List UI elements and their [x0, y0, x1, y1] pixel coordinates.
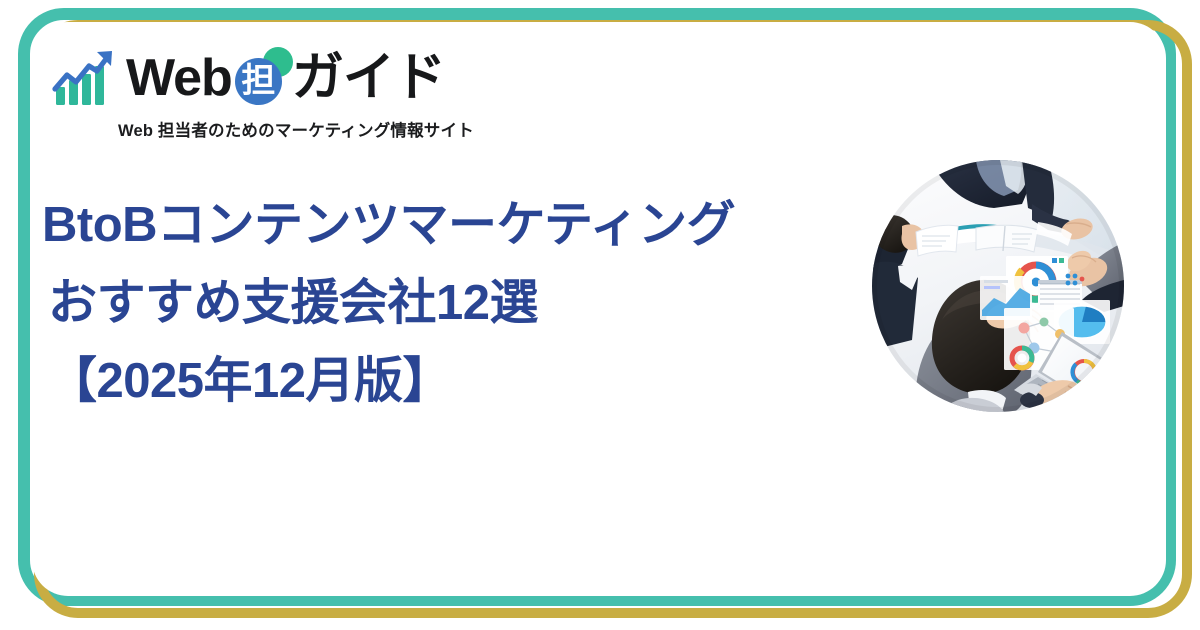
site-brand: Web 担 ガイド Web 担当者のためのマーケティング情報サイト	[52, 45, 492, 141]
badge-character: 担	[241, 64, 275, 98]
brand-word-web: Web	[126, 49, 232, 107]
bar-chart-growth-arrow-icon	[52, 49, 118, 107]
card-content: Web 担 ガイド Web 担当者のためのマーケティング情報サイト BtoBコン…	[0, 0, 1200, 630]
business-meeting-photo	[872, 160, 1124, 412]
brand-badge: 担	[234, 49, 290, 107]
article-headline: BtoBコンテンツマーケティング おすすめ支援会社12選 【2025年12月版】	[42, 186, 832, 420]
headline-line-2: おすすめ支援会社12選	[42, 264, 832, 342]
ogp-card-canvas: Web 担 ガイド Web 担当者のためのマーケティング情報サイト BtoBコン…	[0, 0, 1200, 630]
brand-word-guide: ガイド	[292, 49, 445, 107]
brand-tagline: Web 担当者のためのマーケティング情報サイト	[118, 117, 492, 141]
headline-line-3: 【2025年12月版】	[42, 342, 832, 420]
badge-circle: 担	[235, 58, 282, 105]
headline-line-1: BtoBコンテンツマーケティング	[42, 186, 832, 264]
brand-logo-row: Web 担 ガイド	[52, 45, 492, 111]
